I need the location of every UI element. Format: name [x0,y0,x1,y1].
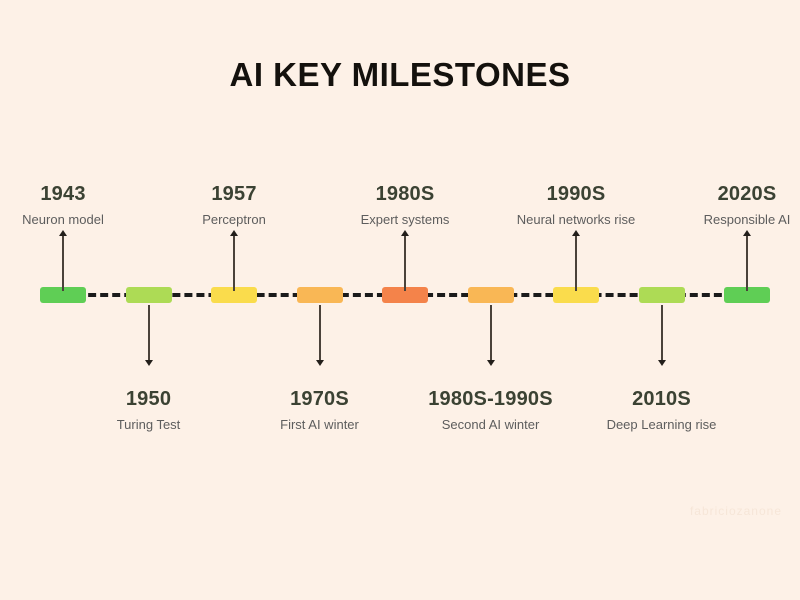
milestone-connector [746,235,748,291]
arrow-up-icon [59,230,67,236]
arrow-up-icon [572,230,580,236]
arrow-down-icon [487,360,495,366]
timeline-segment [639,287,685,303]
milestone-connector [62,235,64,291]
milestone-description: Deep Learning rise [552,417,772,433]
page-title: AI KEY MILESTONES [0,56,800,94]
arrow-up-icon [743,230,751,236]
timeline-segment [297,287,343,303]
milestone-connector [404,235,406,291]
milestone-connector [233,235,235,291]
milestone-connector [148,305,150,361]
arrow-up-icon [230,230,238,236]
timeline-segment [468,287,514,303]
arrow-up-icon [401,230,409,236]
infographic-canvas: AI KEY MILESTONES 1943Neuron model1950Tu… [0,0,800,600]
timeline-segment [126,287,172,303]
arrow-down-icon [316,360,324,366]
arrow-down-icon [145,360,153,366]
milestone-label: 2020SResponsible AI [637,183,800,228]
milestone-connector [575,235,577,291]
milestone-year: 2010S [552,388,772,410]
milestone-connector [490,305,492,361]
milestone-connector [319,305,321,361]
milestone-description: Responsible AI [637,212,800,228]
milestone-year: 2020S [637,183,800,205]
arrow-down-icon [658,360,666,366]
watermark: fabriciozanone [690,504,782,518]
milestone-label: 2010SDeep Learning rise [552,388,772,433]
milestone-connector [661,305,663,361]
